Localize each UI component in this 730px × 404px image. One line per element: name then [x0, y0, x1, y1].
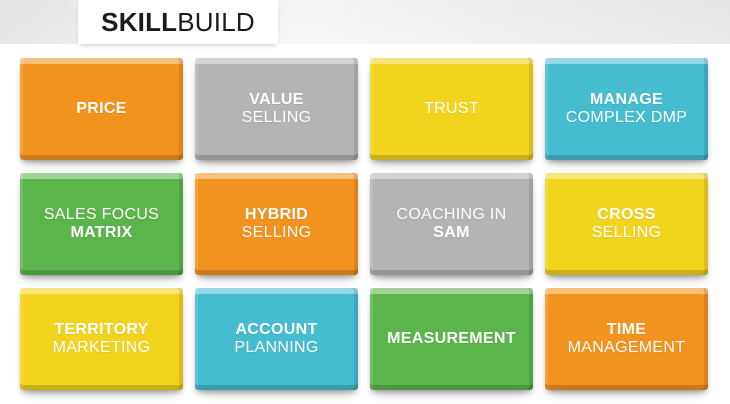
skill-tile-line2: MATRIX: [44, 224, 159, 242]
skill-tile-line1: SALES FOCUS: [44, 206, 159, 224]
logo-bold-part: SKILL: [101, 7, 177, 37]
logo-banner: SKILLBUILD: [78, 0, 278, 44]
skill-tile-line2: SELLING: [242, 224, 312, 242]
skill-tile-line1: MANAGE: [566, 91, 688, 109]
skill-tile-account-planning[interactable]: ACCOUNTPLANNING: [195, 288, 358, 390]
skill-tile-label: COACHING INSAM: [391, 206, 513, 242]
skill-tile-time-management[interactable]: TIMEMANAGEMENT: [545, 288, 708, 390]
skill-tile-label: PRICE: [70, 100, 132, 118]
skill-tile-line2: MARKETING: [53, 339, 151, 357]
skill-tile-price[interactable]: PRICE: [20, 58, 183, 160]
skill-tile-line2: PLANNING: [234, 339, 318, 357]
skill-tile-manage-complex-dmp[interactable]: MANAGECOMPLEX DMP: [545, 58, 708, 160]
skill-tile-label: TRUST: [418, 100, 485, 118]
skill-tile-line2: SELLING: [592, 224, 662, 242]
skill-tile-line2: COMPLEX DMP: [566, 109, 688, 127]
skill-tile-line1: VALUE: [242, 91, 312, 109]
skill-tile-label: CROSSSELLING: [586, 206, 668, 242]
skill-tile-line2: SELLING: [242, 109, 312, 127]
skill-tile-line1: HYBRID: [242, 206, 312, 224]
skill-tile-label: SALES FOCUSMATRIX: [38, 206, 165, 242]
skill-tile-value-selling[interactable]: VALUESELLING: [195, 58, 358, 160]
skill-tile-label: ACCOUNTPLANNING: [228, 321, 324, 357]
skill-tile-hybrid-selling[interactable]: HYBRIDSELLING: [195, 173, 358, 275]
skill-tile-label: TERRITORYMARKETING: [47, 321, 157, 357]
skill-tile-label: TIMEMANAGEMENT: [562, 321, 692, 357]
skill-tile-cross-selling[interactable]: CROSSSELLING: [545, 173, 708, 275]
skill-tile-grid: PRICEVALUESELLINGTRUSTMANAGECOMPLEX DMPS…: [20, 58, 710, 390]
skill-tile-line1: TERRITORY: [53, 321, 151, 339]
skill-tile-line1: PRICE: [76, 100, 126, 118]
skill-tile-coaching-in-sam[interactable]: COACHING INSAM: [370, 173, 533, 275]
skill-tile-line2: MANAGEMENT: [568, 339, 686, 357]
skill-tile-line2: SAM: [397, 224, 507, 242]
skill-tile-label: HYBRIDSELLING: [236, 206, 318, 242]
skill-tile-label: MEASUREMENT: [381, 330, 522, 348]
skill-tile-sales-focus-matrix[interactable]: SALES FOCUSMATRIX: [20, 173, 183, 275]
skill-tile-label: MANAGECOMPLEX DMP: [560, 91, 694, 127]
skill-tile-line1: MEASUREMENT: [387, 330, 516, 348]
skill-tile-measurement[interactable]: MEASUREMENT: [370, 288, 533, 390]
skill-tile-line1: TRUST: [424, 100, 479, 118]
logo-light-part: BUILD: [177, 7, 255, 37]
skill-tile-line1: ACCOUNT: [234, 321, 318, 339]
skill-tile-line1: CROSS: [592, 206, 662, 224]
skill-tile-line1: TIME: [568, 321, 686, 339]
skill-tile-trust[interactable]: TRUST: [370, 58, 533, 160]
skill-tile-line1: COACHING IN: [397, 206, 507, 224]
skill-tile-territory-marketing[interactable]: TERRITORYMARKETING: [20, 288, 183, 390]
skill-tile-label: VALUESELLING: [236, 91, 318, 127]
logo-text: SKILLBUILD: [101, 9, 255, 35]
